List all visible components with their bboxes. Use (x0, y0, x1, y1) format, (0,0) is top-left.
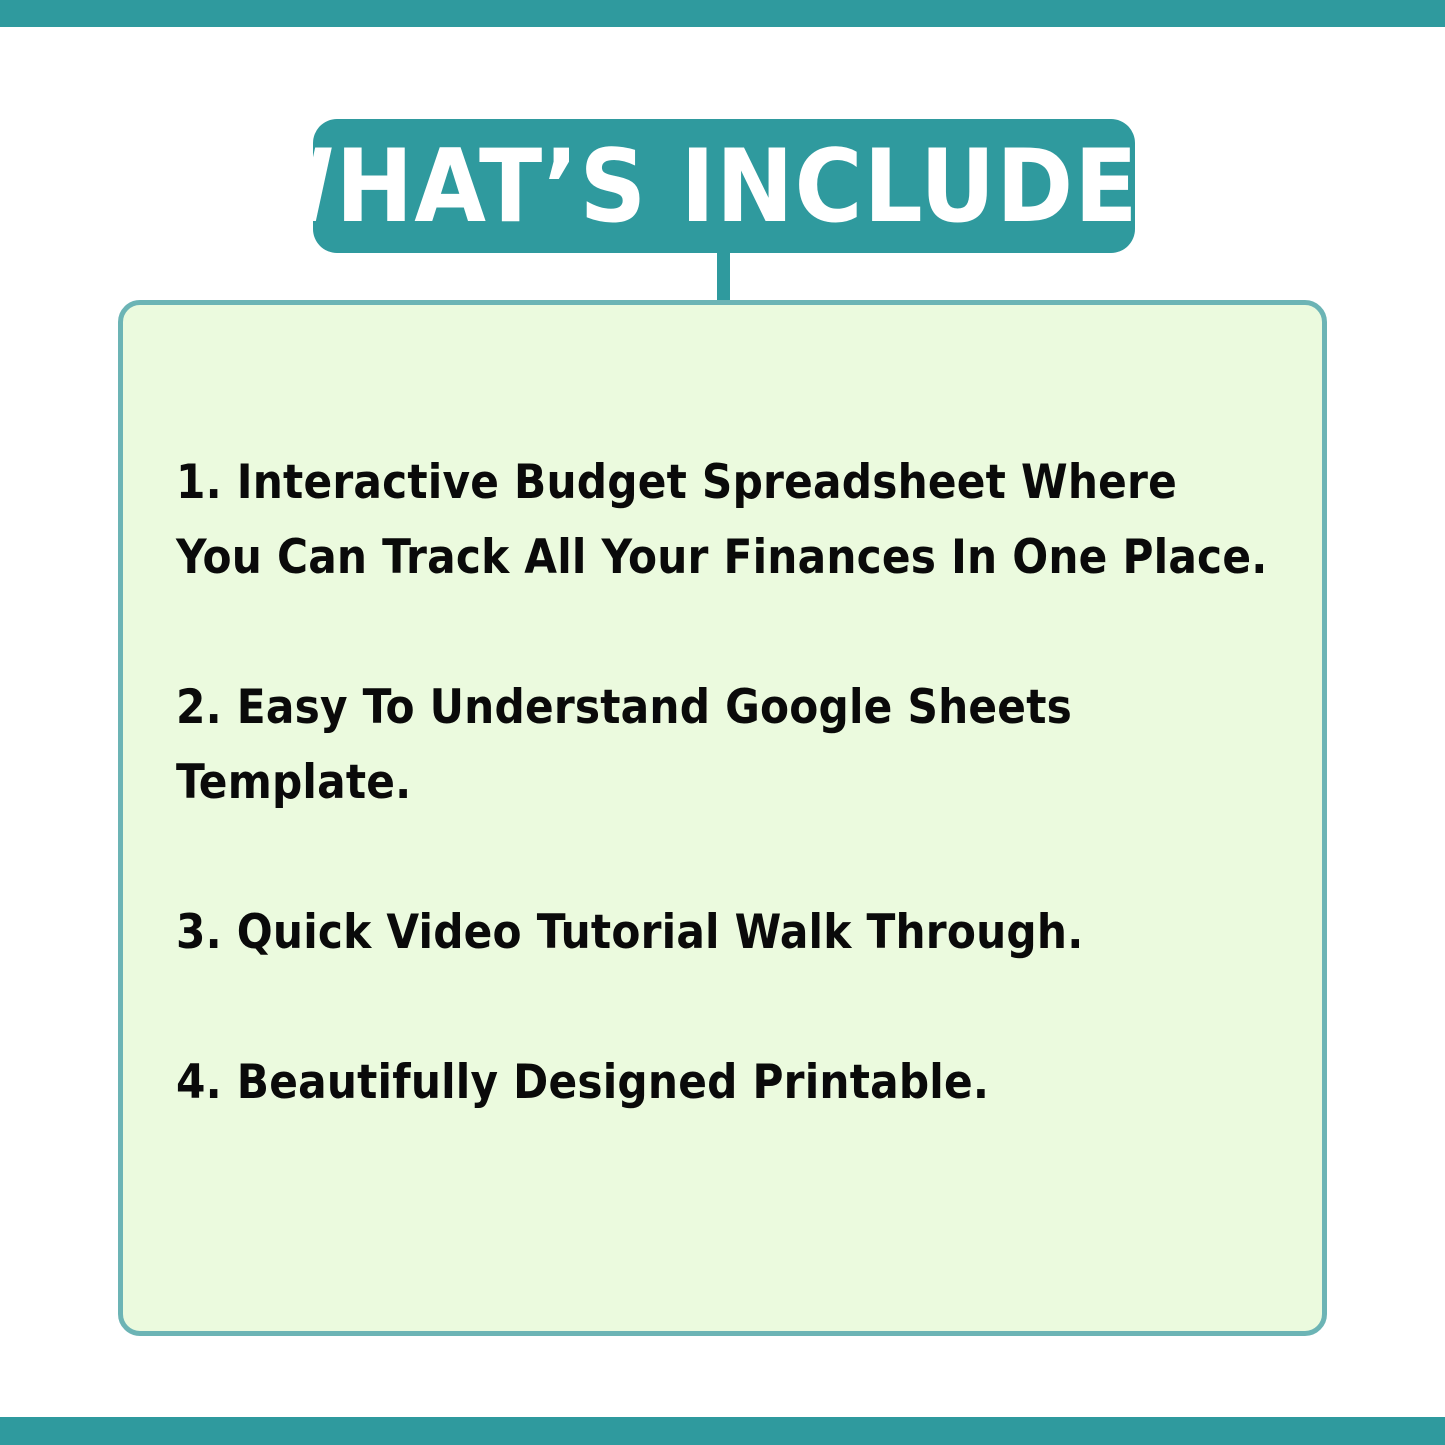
top-accent-bar (0, 0, 1445, 27)
banner-title: WHAT’S INCLUDED (232, 136, 1216, 237)
list-item: 1. Interactive Budget Spreadsheet Where … (176, 445, 1276, 595)
bottom-accent-bar (0, 1417, 1445, 1445)
list-item: 3. Quick Video Tutorial Walk Through. (176, 895, 1276, 970)
list-item: 4. Beautifully Designed Printable. (176, 1045, 1276, 1120)
included-items-list: 1. Interactive Budget Spreadsheet Where … (176, 445, 1276, 1120)
list-item: 2. Easy To Understand Google Sheets Temp… (176, 670, 1276, 820)
header-banner: WHAT’S INCLUDED (313, 119, 1135, 253)
infographic-page: WHAT’S INCLUDED 1. Interactive Budget Sp… (0, 0, 1445, 1445)
banner-connector-stem (717, 250, 730, 305)
included-items-card: 1. Interactive Budget Spreadsheet Where … (118, 300, 1327, 1336)
